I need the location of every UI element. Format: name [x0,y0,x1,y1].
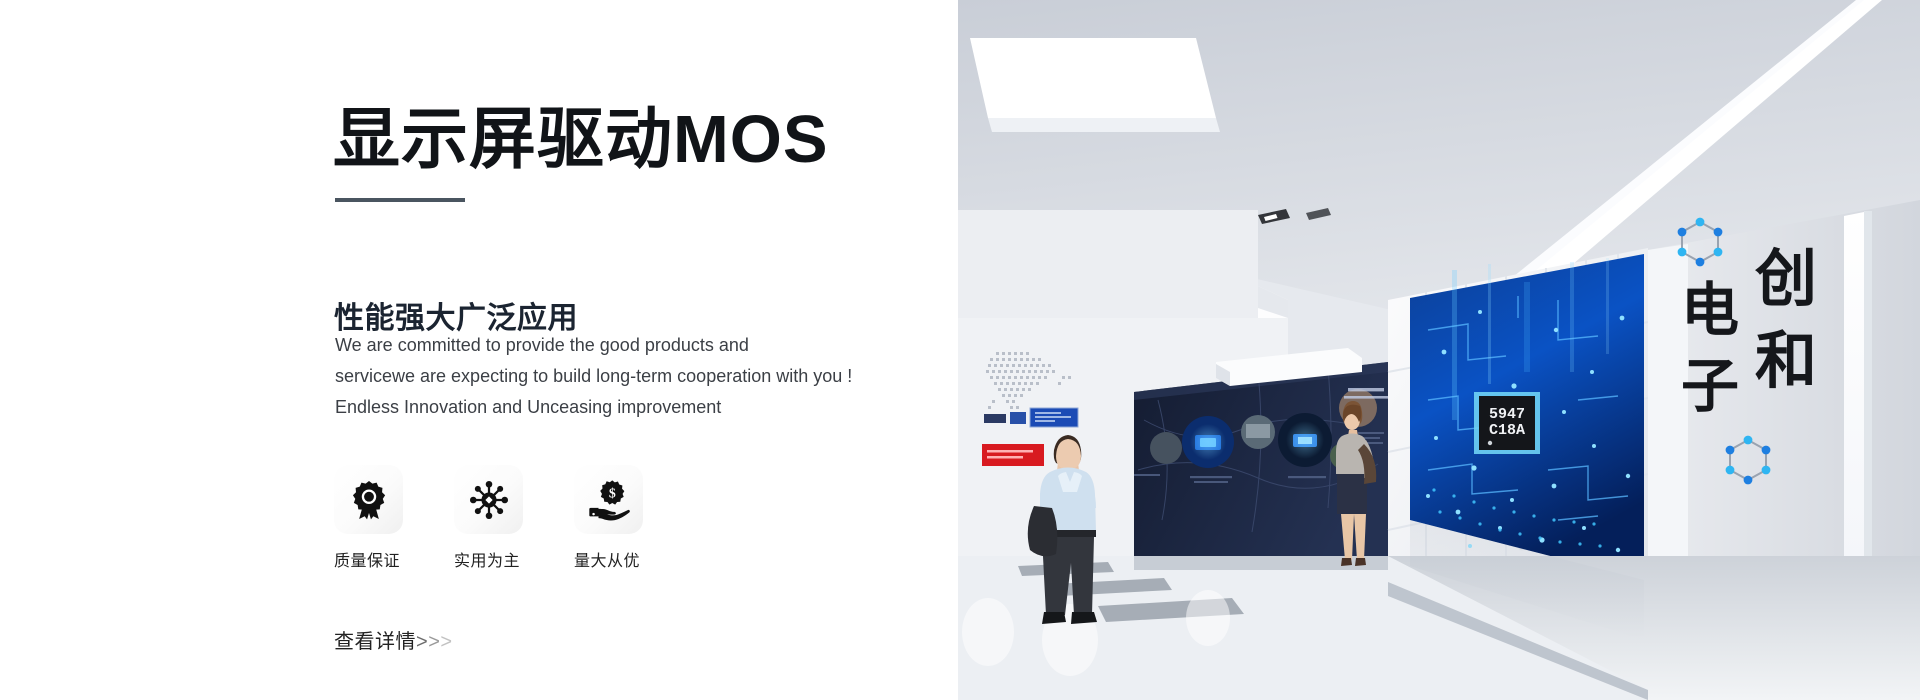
cta-chevron-2: > [428,631,440,653]
feature-list: 质量保证 [334,465,668,571]
feature-item-bulk-discount[interactable]: $ 量大从优 [574,465,668,571]
svg-text:$: $ [608,485,615,500]
body-line-1: We are committed to provide the good pro… [335,330,895,361]
sign-char-zi: 子 [1681,354,1739,419]
cta-chevron-3: > [440,631,452,653]
showroom-photo: 5947 C18A 创 和 电 子 [958,0,1920,700]
title-divider [335,198,465,202]
feature-label: 量大从优 [574,547,668,571]
feature-label: 质量保证 [334,547,428,571]
banner-text-panel: 显示屏驱动MOS 性能强大广泛应用 We are committed to pr… [0,0,960,700]
cta-chevron-1: > [416,631,428,653]
hand-money-icon: $ [588,479,630,521]
sign-char-dian: 电 [1681,278,1739,343]
sign-char-chuang: 创 [1755,245,1817,314]
showroom-illustration: 5947 C18A 创 和 电 子 [958,0,1920,700]
body-copy: We are committed to provide the good pro… [335,330,895,423]
page-title: 显示屏驱动MOS [333,100,829,179]
feature-item-quality[interactable]: 质量保证 [334,465,428,571]
feature-icon-tile [454,465,523,534]
feature-item-practical[interactable]: 实用为主 [454,465,548,571]
chip-line-2: C18A [1489,422,1525,439]
led-chip: 5947 C18A [1474,392,1540,454]
view-details-link[interactable]: 查看详情>>> [334,625,453,654]
body-line-2: servicewe are expecting to build long-te… [335,361,895,392]
body-line-3: Endless Innovation and Unceasing improve… [335,392,895,423]
feature-label: 实用为主 [454,547,548,571]
sign-char-he: 和 [1755,327,1817,396]
feature-icon-tile [334,465,403,534]
promo-banner: 显示屏驱动MOS 性能强大广泛应用 We are committed to pr… [0,0,1920,700]
cta-label: 查看详情 [334,631,416,653]
chip-line-1: 5947 [1489,406,1525,423]
feature-icon-tile: $ [574,465,643,534]
award-ribbon-icon [348,479,390,521]
network-hub-icon [468,479,510,521]
